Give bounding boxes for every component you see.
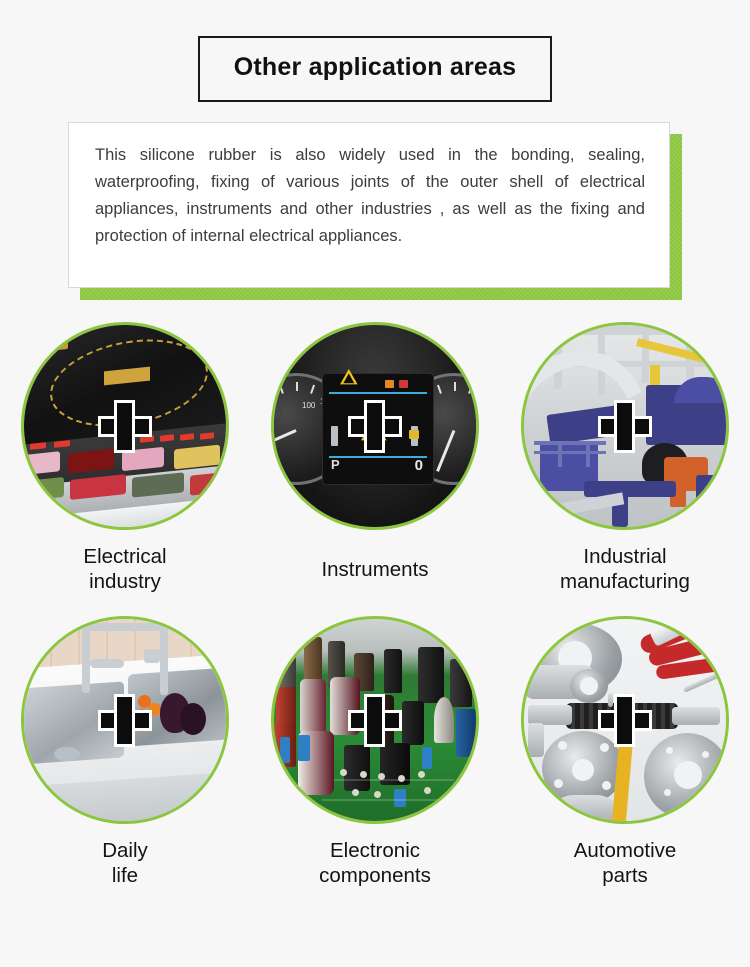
application-label: Electrical industry (83, 544, 166, 594)
application-thumbnail-electronic-components[interactable] (271, 616, 479, 824)
page-title: Other application areas (234, 54, 516, 82)
induction-cooker-illustration (24, 325, 226, 527)
page-header: Other application areas (0, 36, 750, 102)
application-grid: Electrical industry (0, 322, 750, 888)
description-card: This silicone rubber is also widely used… (68, 122, 682, 300)
application-thumbnail-electrical-industry[interactable] (21, 322, 229, 530)
description-panel: This silicone rubber is also widely used… (68, 122, 670, 288)
application-label: Industrial manufacturing (560, 544, 690, 594)
factory-assembly-line-illustration (524, 325, 726, 527)
application-item-electronic-components[interactable]: Electronic components (260, 616, 490, 888)
automotive-parts-illustration (524, 619, 726, 821)
application-label: Electronic components (319, 838, 431, 888)
application-row-2: Daily life (0, 616, 750, 888)
title-box: Other application areas (198, 36, 552, 102)
application-item-automotive-parts[interactable]: Automotive parts (510, 616, 740, 888)
application-thumbnail-daily-life[interactable] (21, 616, 229, 824)
application-item-electrical-industry[interactable]: Electrical industry (10, 322, 240, 594)
car-instrument-cluster-illustration: 100 120 140 160 180 200 220 240 (274, 325, 476, 527)
application-label: Instruments (321, 544, 428, 594)
kitchen-sink-illustration (24, 619, 226, 821)
description-text: This silicone rubber is also widely used… (95, 142, 645, 250)
circuit-board-illustration (274, 619, 476, 821)
application-thumbnail-instruments[interactable]: 100 120 140 160 180 200 220 240 (271, 322, 479, 530)
application-item-instruments[interactable]: 100 120 140 160 180 200 220 240 (260, 322, 490, 594)
application-item-daily-life[interactable]: Daily life (10, 616, 240, 888)
application-label: Automotive parts (574, 838, 677, 888)
application-label: Daily life (102, 838, 148, 888)
application-item-industrial-manufacturing[interactable]: Industrial manufacturing (510, 322, 740, 594)
application-thumbnail-industrial-manufacturing[interactable] (521, 322, 729, 530)
application-thumbnail-automotive-parts[interactable] (521, 616, 729, 824)
application-row-1: Electrical industry (0, 322, 750, 594)
